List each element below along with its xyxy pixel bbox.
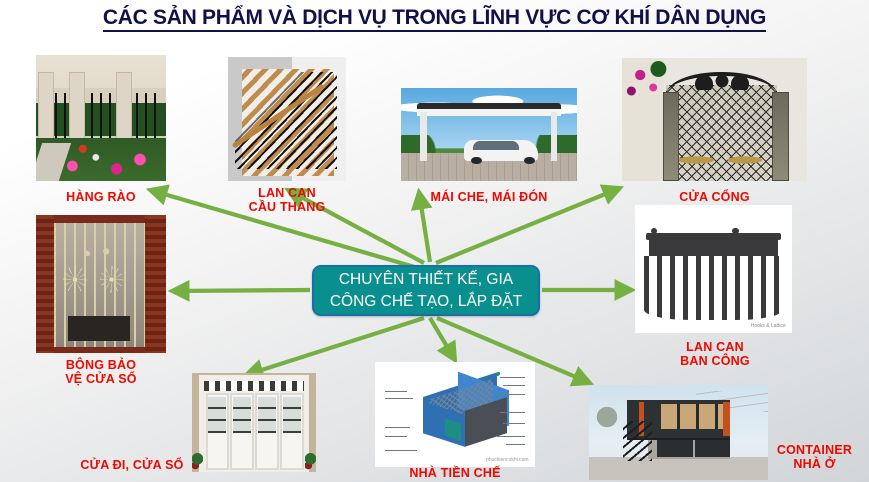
bare-tree [593,396,622,438]
gravel-ground [589,457,768,480]
window-grille-scene [36,215,166,353]
product-image-lan-can-ban-cong[interactable]: Hooks & Lattice [635,205,792,333]
callout-line [497,436,526,437]
exterior-staircase [623,421,652,461]
arrow-to-bong-bao-ve [172,290,310,291]
railing-curved-balusters [644,256,782,320]
door-leaf [230,393,254,470]
window-sill [68,316,130,341]
callout-line [503,423,525,424]
door-leaf [280,393,304,470]
product-image-container-nha-o[interactable] [589,385,768,480]
product-image-nha-tien-che[interactable]: phuckiencokhi.com [375,362,535,467]
image-watermark: phuckiencokhi.com [486,457,529,463]
canopy-post [420,112,426,160]
car-wheel [524,157,535,164]
product-image-cua-cong[interactable] [622,58,807,181]
callout-line [497,394,526,395]
fence-bars [46,93,163,143]
door-glass-panel [283,397,301,433]
door-leaf [255,393,279,470]
callout-line [385,427,411,428]
central-service-node[interactable]: CHUYÊN THIẾT KẾ, GIA CÔNG CHẾ TẠO, LẮP Đ… [312,265,540,316]
door-glass-panel [258,397,276,433]
fence-post [117,73,131,144]
product-image-mai-che[interactable] [401,88,577,181]
gate-scrollwork [692,75,751,90]
grille-top-scroll [69,233,129,255]
door-glass-panel [233,397,251,433]
caption-bong-bao-ve: BÔNG BẢO VỆ CỬA SỔ [30,358,172,386]
callout-line [500,412,526,413]
caption-hang-rao: HÀNG RÀO [36,190,166,204]
panoramic-windows [661,404,729,429]
window-frame-left [36,215,54,353]
caption-cua-cong: CỬA CỔNG [622,190,807,204]
callout-line [500,377,526,378]
door-scene [192,373,316,472]
gate-pillar [772,92,789,181]
callout-line [385,398,414,399]
garage-door [695,440,731,457]
fence-post [39,73,53,144]
product-image-bong-bao-ve[interactable] [36,215,166,353]
window-frame-right [145,215,166,353]
caption-lan-can-ban-cong: LAN CAN BAN CÔNG [645,340,785,368]
callout-line [506,444,525,445]
product-image-hang-rao[interactable] [36,55,166,181]
door-transom-window [204,381,303,391]
gate-scene [622,58,807,181]
image-watermark: Hooks & Lattice [751,323,786,329]
product-image-cua-di-cua-so[interactable] [192,373,316,472]
gate-pillar [663,92,680,181]
callout-line [385,436,407,437]
container-house-scene [589,385,768,480]
garage-door [657,440,693,457]
slide-canvas: CÁC SẢN PHẨM VÀ DỊCH VỤ TRONG LĨNH VỰC C… [0,0,869,482]
callout-line [385,450,417,451]
product-image-lan-can-cau-thang[interactable] [228,57,346,181]
callout-line [385,391,407,392]
central-service-label: CHUYÊN THIẾT KẾ, GIA CÔNG CHẾ TẠO, LẮP Đ… [330,269,522,313]
car-windshield [473,141,519,150]
balcony-railing-scene: Hooks & Lattice [635,205,792,333]
window-opening [54,223,145,347]
prefab-diagram-scene: phuckiencokhi.com [375,362,535,467]
caption-nha-tien-che: NHÀ TIỀN CHẾ [375,466,535,480]
canopy-roof-underside [417,109,561,116]
potted-plant [305,450,316,472]
gate-ornament-panel [670,144,774,176]
grille-flower-motif [63,266,87,293]
canopy-post [551,112,557,160]
caption-container-nha-o: CONTAINER NHÀ Ở [760,443,869,471]
railing-scrollwork [649,240,778,257]
callout-line [503,385,525,386]
door-leaf [206,393,230,470]
fence-scene [36,55,166,181]
caption-cua-di-cua-so: CỬA ĐI, CỬA SỔ [70,458,194,472]
door-glass-panel [208,397,226,433]
caption-lan-can-cau-thang: LAN CAN CẦU THANG [222,186,352,214]
staircase-scene [228,57,346,181]
caption-mai-che: MÁI CHE, MÁI ĐÓN [398,190,580,204]
fence-post [70,73,84,144]
orange-accent-panel [723,402,730,436]
carport-scene [401,88,577,181]
grille-flower-motif [100,266,124,293]
